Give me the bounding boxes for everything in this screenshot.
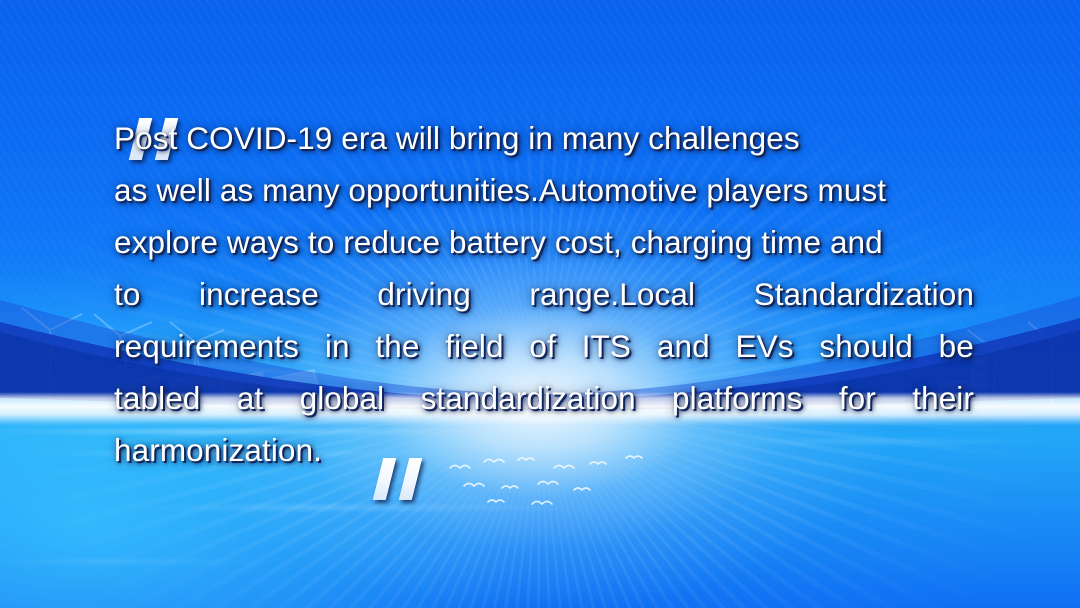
quote-word: in: [325, 320, 350, 372]
quote-word: platforms: [672, 372, 802, 424]
quote-word: EVs: [736, 320, 794, 372]
quote-word: Standardization: [754, 268, 974, 320]
quote-word: ITS: [582, 320, 631, 372]
quote-word: range.Local: [529, 268, 695, 320]
quote-word: for: [839, 372, 876, 424]
quote-word: tabled: [114, 372, 200, 424]
quote-word: should: [819, 320, 912, 372]
quote-word: be: [939, 320, 974, 372]
quote-word: at: [237, 372, 263, 424]
quote-word: the: [375, 320, 419, 372]
quote-line-5: requirements in the field of ITS and EVs…: [114, 320, 974, 372]
quote-line-7: harmonization.: [114, 424, 974, 476]
quote-word: and: [657, 320, 710, 372]
quote-word: field: [445, 320, 503, 372]
quote-word: global: [300, 372, 385, 424]
quote-line-3: explore ways to reduce battery cost, cha…: [114, 216, 974, 268]
wind-turbines-right-group: [960, 312, 1080, 412]
quote-word: their: [912, 372, 974, 424]
quote-word: requirements: [114, 320, 299, 372]
quote-word: of: [529, 320, 555, 372]
quote-word: to: [114, 268, 140, 320]
quote-text-block: Post COVID-19 era will bring in many cha…: [114, 112, 974, 476]
quote-line-4: to increase driving range.Local Standard…: [114, 268, 974, 320]
quote-line-1: Post COVID-19 era will bring in many cha…: [114, 112, 974, 164]
quote-word: standardization: [421, 372, 636, 424]
quote-word: increase: [199, 268, 319, 320]
quote-line-6: tabled at global standardization platfor…: [114, 372, 974, 424]
quote-word: driving: [377, 268, 471, 320]
quote-slide: Post COVID-19 era will bring in many cha…: [0, 0, 1080, 608]
quote-line-2: as well as many opportunities.Automotive…: [114, 164, 974, 216]
